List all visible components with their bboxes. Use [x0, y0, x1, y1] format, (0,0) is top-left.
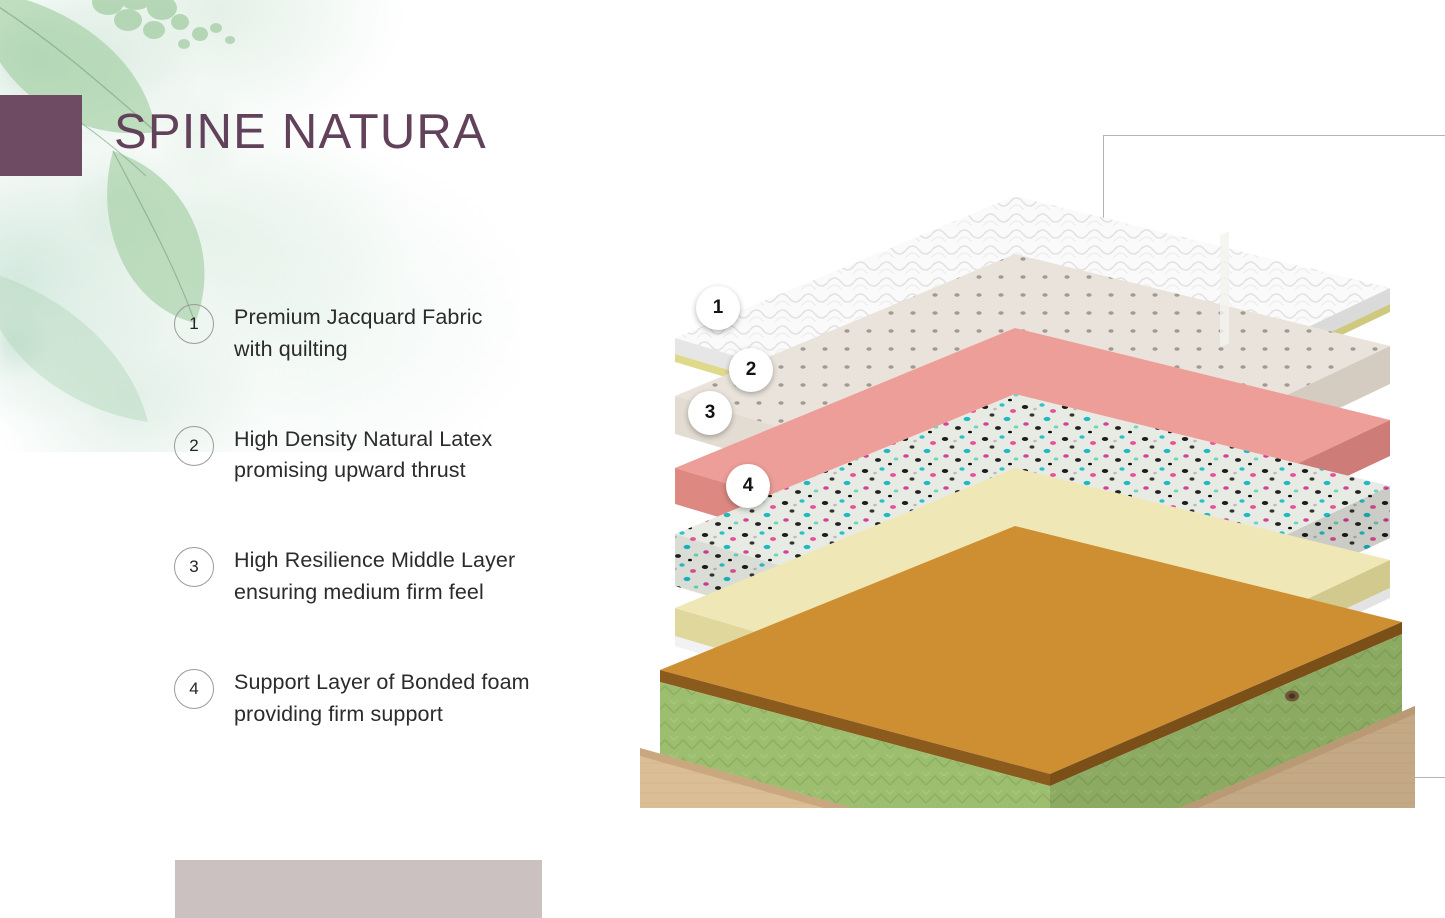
list-item: 1 Premium Jacquard Fabric with quilting	[174, 302, 604, 366]
callout-badge-2: 2	[729, 348, 773, 392]
callout-badge-1: 1	[696, 286, 740, 330]
feature-number-badge: 2	[174, 426, 214, 466]
feature-text: Premium Jacquard Fabric with quilting	[234, 302, 482, 366]
leaf-icon-lower-left	[0, 250, 160, 440]
feature-list: 1 Premium Jacquard Fabric with quilting …	[174, 302, 604, 731]
feature-number-badge: 1	[174, 304, 214, 344]
feature-line-1: Support Layer of Bonded foam	[234, 667, 530, 699]
feature-line-1: High Resilience Middle Layer	[234, 545, 515, 577]
feature-text: High Density Natural Latex promising upw…	[234, 424, 492, 488]
feature-line-2: promising upward thrust	[234, 455, 492, 487]
bottom-accent-bar	[175, 860, 542, 918]
page-title: SPINE NATURA	[114, 104, 487, 160]
feature-text: Support Layer of Bonded foam providing f…	[234, 667, 530, 731]
feature-line-1: High Density Natural Latex	[234, 424, 492, 456]
feature-line-1: Premium Jacquard Fabric	[234, 302, 482, 334]
brand-accent-square	[0, 95, 82, 176]
feature-number-badge: 3	[174, 547, 214, 587]
feature-line-2: ensuring medium firm feel	[234, 577, 515, 609]
feature-line-2: providing firm support	[234, 699, 530, 731]
feature-number-badge: 4	[174, 669, 214, 709]
list-item: 2 High Density Natural Latex promising u…	[174, 424, 604, 488]
feature-text: High Resilience Middle Layer ensuring me…	[234, 545, 515, 609]
callout-badge-3: 3	[688, 391, 732, 435]
list-item: 3 High Resilience Middle Layer ensuring …	[174, 545, 604, 609]
callout-badge-4: 4	[726, 464, 770, 508]
feature-line-2: with quilting	[234, 334, 482, 366]
list-item: 4 Support Layer of Bonded foam providing…	[174, 667, 604, 731]
berry-cluster-icon	[88, 0, 258, 68]
